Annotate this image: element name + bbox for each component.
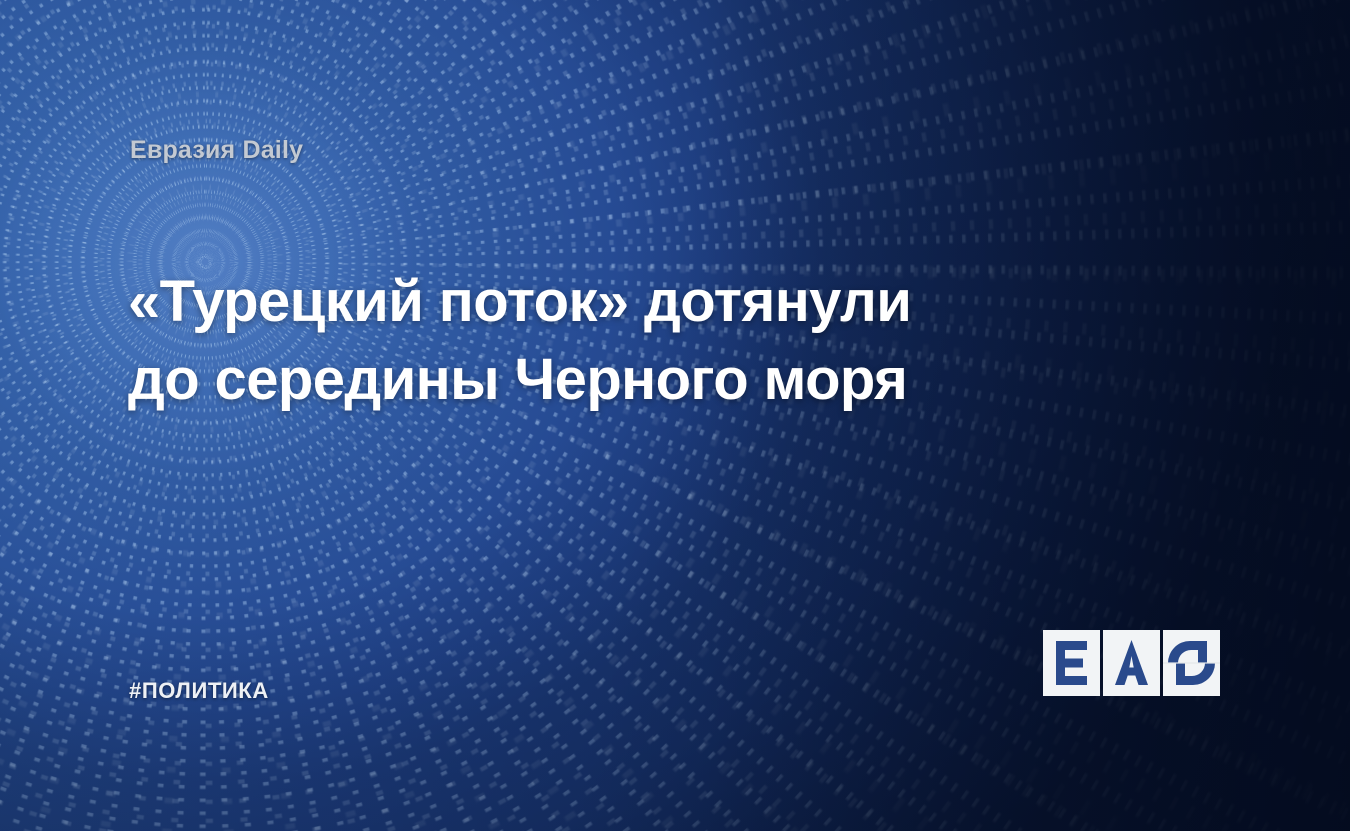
logo-tile-e — [1043, 630, 1100, 696]
card-content: Евразия Daily «Турецкий поток» дотянули … — [0, 0, 1350, 831]
logo-tile-d-split — [1163, 630, 1220, 696]
news-card: Евразия Daily «Турецкий поток» дотянули … — [0, 0, 1350, 831]
ead-logo[interactable] — [1043, 630, 1221, 696]
headline-line-1: «Турецкий поток» дотянули — [128, 263, 938, 341]
brand-title: Евразия Daily — [130, 136, 303, 165]
page-title: «Турецкий поток» дотянули до середины Че… — [128, 263, 938, 419]
headline-line-2: до середины Черного моря — [128, 341, 938, 419]
logo-tile-a — [1103, 630, 1160, 696]
category-hashtag[interactable]: #ПОЛИТИКА — [129, 678, 269, 704]
